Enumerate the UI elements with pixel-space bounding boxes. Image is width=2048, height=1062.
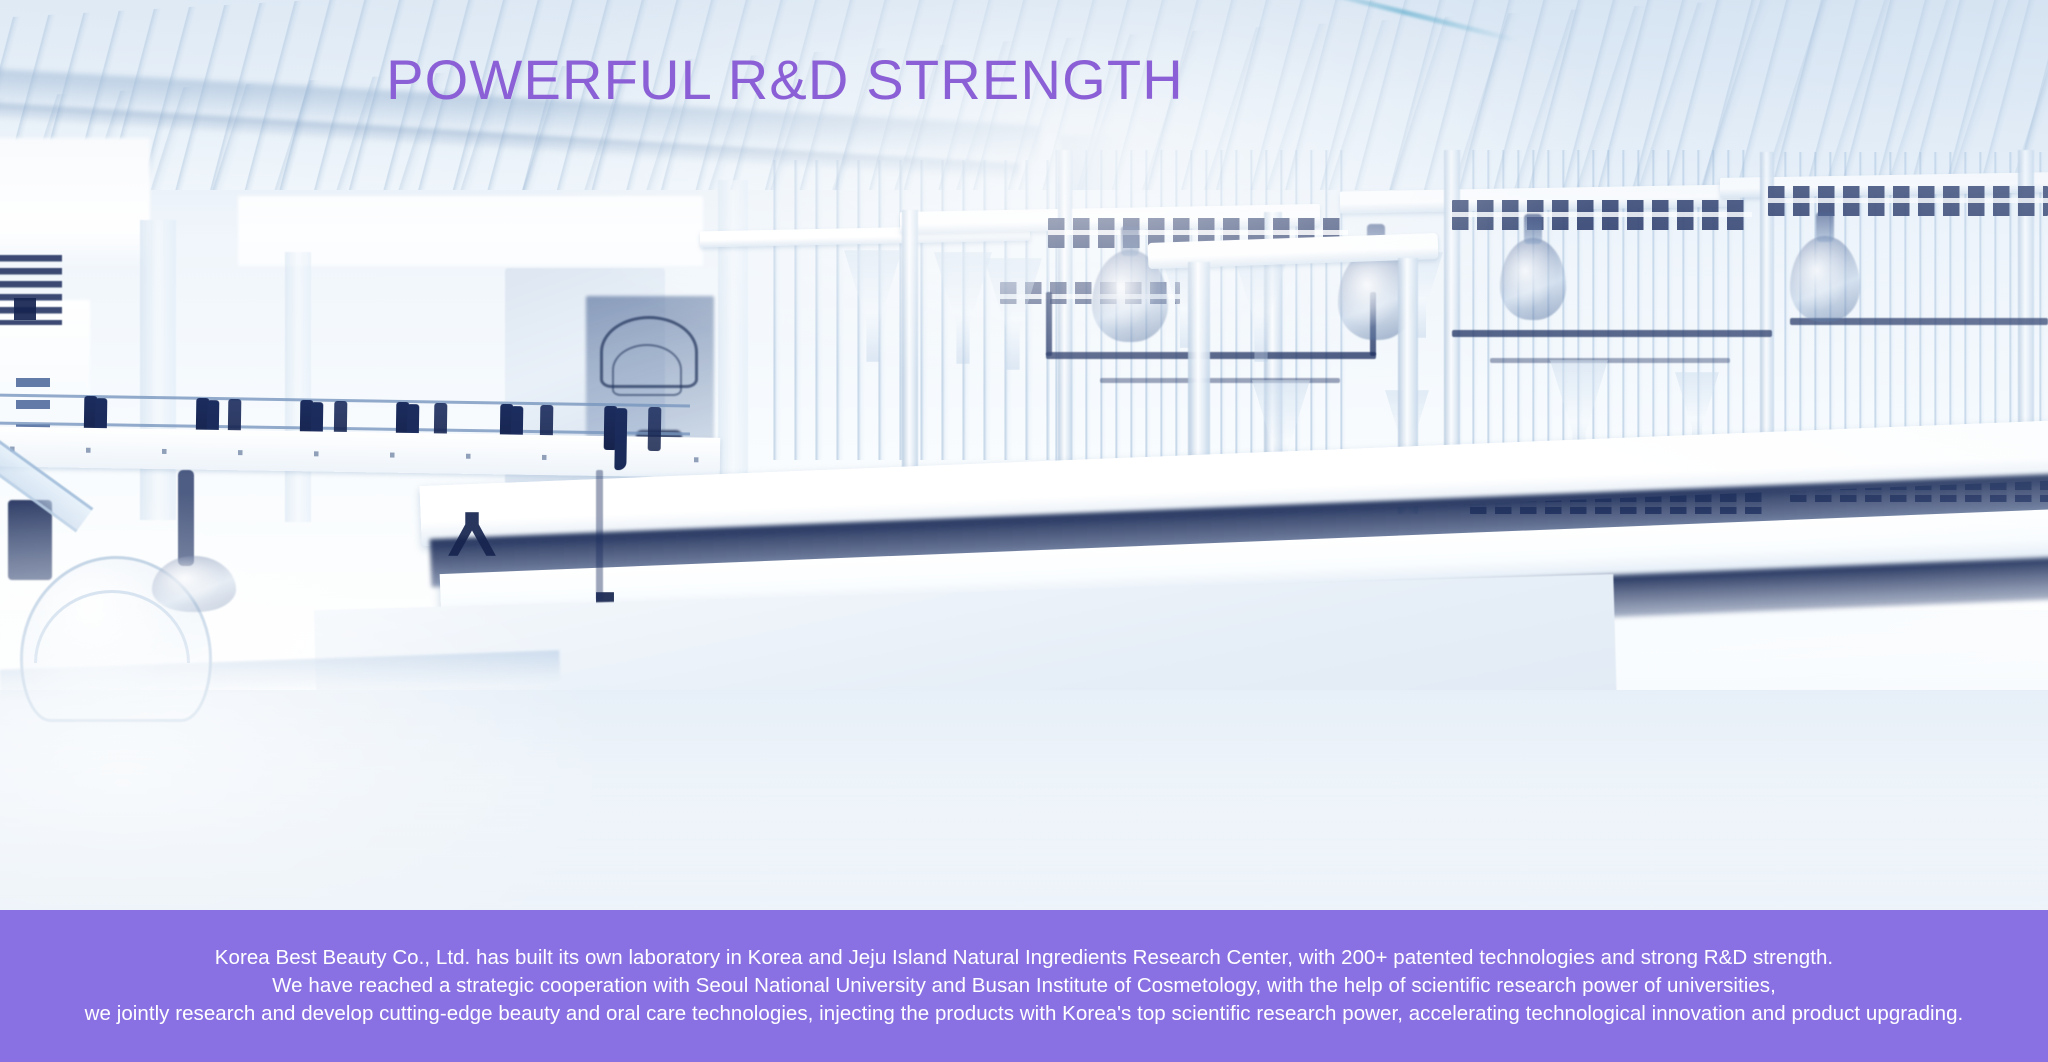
wall-bracket-1 [16, 378, 50, 387]
vessel-support-rod [178, 470, 194, 566]
wall-column-1 [140, 220, 176, 520]
rack-bar-support-b [1490, 358, 1730, 363]
rack-bar-upright-a [1046, 292, 1052, 356]
wall-column-2 [285, 252, 311, 522]
rack-post-1 [902, 210, 918, 490]
flask-neck-icon [1121, 226, 1139, 256]
clamp-10 [604, 406, 618, 450]
floor [0, 690, 2048, 912]
wall-control-box [14, 298, 36, 320]
bench-support-rod [596, 470, 603, 600]
clamp-11 [648, 407, 662, 451]
wall-bracket-2 [16, 400, 50, 409]
banner-line-1: Korea Best Beauty Co., Ltd. has built it… [215, 944, 1833, 972]
page-title: POWERFUL R&D STRENGTH [0, 47, 1570, 112]
wall-column-3 [718, 180, 748, 480]
flask-neck-icon [1524, 214, 1542, 244]
rack-clips-right-b [1452, 200, 1752, 230]
window-left [0, 138, 150, 266]
vessel-stand [8, 500, 52, 580]
rack-clips-right-c [1768, 186, 2048, 216]
rack-bar-right-a [1046, 352, 1376, 359]
banner-line-2: We have reached a strategic cooperation … [272, 972, 1776, 1000]
rack-bar-right-b [1452, 330, 1772, 337]
hero-laboratory-image: POWERFUL R&D STRENGTH [0, 0, 2048, 912]
banner-line-3: we jointly research and develop cutting-… [85, 1000, 1964, 1028]
clamp-hook-icon [614, 408, 627, 470]
rack-post-3 [1058, 150, 1072, 480]
machine-coil-lower [612, 344, 682, 396]
description-banner: Korea Best Beauty Co., Ltd. has built it… [0, 910, 2048, 1062]
flask-neck-icon [1816, 212, 1834, 242]
page-root: POWERFUL R&D STRENGTH Korea Best Beauty … [0, 0, 2048, 1062]
